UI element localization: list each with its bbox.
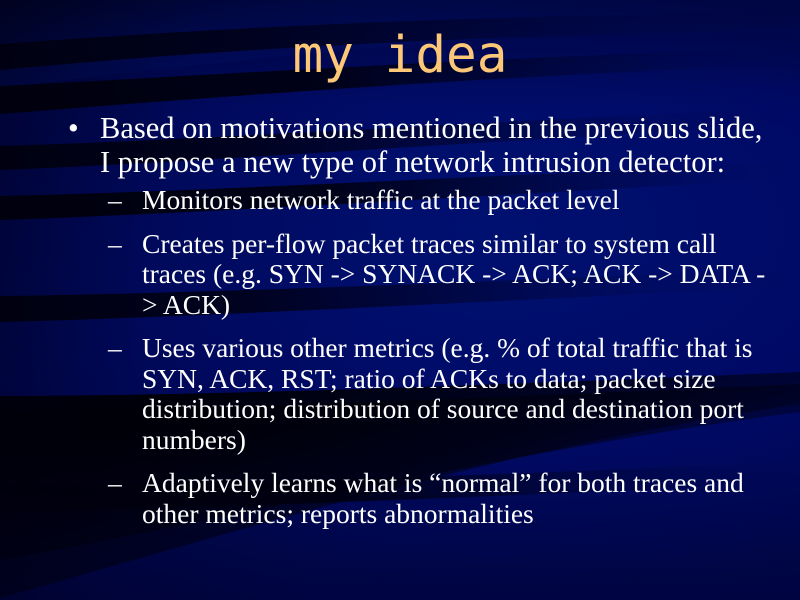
- bullet-item-level1: • Based on motivations mentioned in the …: [56, 112, 772, 179]
- bullet-item-level2-other-metrics: – Uses various other metrics (e.g. % of …: [56, 333, 772, 455]
- bullet-item-level2-monitors: – Monitors network traffic at the packet…: [56, 185, 772, 216]
- bullet-text: Based on motivations mentioned in the pr…: [100, 112, 772, 179]
- bullet-marker-dash: –: [108, 185, 122, 216]
- bullet-marker-dash: –: [108, 333, 122, 364]
- bullet-text: Adaptively learns what is “normal” for b…: [142, 468, 772, 529]
- bullet-text: Uses various other metrics (e.g. % of to…: [142, 333, 772, 455]
- bullet-text: Creates per-flow packet traces similar t…: [142, 229, 772, 321]
- slide-title-bar: my idea: [0, 28, 800, 84]
- bullet-marker-dash: –: [108, 468, 122, 499]
- bullet-marker-dot: •: [68, 112, 79, 146]
- bullet-item-level2-adaptive-learning: – Adaptively learns what is “normal” for…: [56, 468, 772, 529]
- page-title: my idea: [293, 28, 508, 84]
- bullet-item-level2-creates-traces: – Creates per-flow packet traces similar…: [56, 229, 772, 321]
- slide-body: • Based on motivations mentioned in the …: [56, 112, 772, 542]
- bullet-marker-dash: –: [108, 229, 122, 260]
- presentation-slide: my idea • Based on motivations mentioned…: [0, 0, 800, 600]
- sub-bullet-list: – Monitors network traffic at the packet…: [56, 185, 772, 529]
- bullet-text: Monitors network traffic at the packet l…: [142, 185, 772, 216]
